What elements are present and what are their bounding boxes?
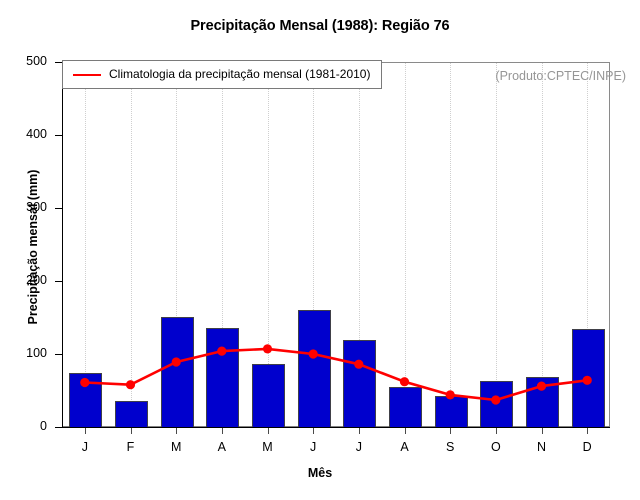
- x-tick-mark: [359, 427, 360, 434]
- gridline: [85, 63, 86, 426]
- bar: [161, 317, 194, 428]
- chart-figure: Precipitação Mensal (1988): Região 76 Pr…: [0, 0, 640, 500]
- x-tick-label: A: [385, 440, 425, 454]
- x-axis-line: [62, 427, 610, 428]
- x-axis-label: Mês: [0, 466, 640, 480]
- bar: [435, 396, 468, 428]
- x-tick-mark: [405, 427, 406, 434]
- y-tick-mark: [55, 281, 62, 282]
- y-tick-mark: [55, 354, 62, 355]
- y-tick-label: 300: [3, 200, 47, 214]
- x-tick-label: O: [476, 440, 516, 454]
- y-tick-mark: [55, 427, 62, 428]
- gridline: [542, 63, 543, 426]
- y-tick-mark: [55, 62, 62, 63]
- bar: [480, 381, 513, 428]
- y-tick-label: 400: [3, 127, 47, 141]
- gridline: [496, 63, 497, 426]
- plot-area: [62, 62, 610, 427]
- x-tick-label: J: [339, 440, 379, 454]
- x-tick-mark: [222, 427, 223, 434]
- x-tick-label: J: [293, 440, 333, 454]
- x-tick-label: J: [65, 440, 105, 454]
- x-tick-mark: [587, 427, 588, 434]
- x-tick-label: M: [248, 440, 288, 454]
- y-tick-label: 0: [3, 419, 47, 433]
- product-credit: (Produto:CPTEC/INPE): [495, 69, 626, 83]
- gridline: [405, 63, 406, 426]
- gridline: [131, 63, 132, 426]
- x-tick-mark: [176, 427, 177, 434]
- bar: [115, 401, 148, 428]
- bar: [572, 329, 605, 428]
- x-tick-label: F: [111, 440, 151, 454]
- gridline: [450, 63, 451, 426]
- bar: [526, 377, 559, 428]
- x-tick-mark: [85, 427, 86, 434]
- y-axis-line: [62, 62, 63, 428]
- y-tick-label: 200: [3, 273, 47, 287]
- y-tick-label: 500: [3, 54, 47, 68]
- y-tick-label: 100: [3, 346, 47, 360]
- bar: [69, 373, 102, 428]
- x-tick-label: S: [430, 440, 470, 454]
- bar: [252, 364, 285, 428]
- x-tick-mark: [450, 427, 451, 434]
- x-tick-label: A: [202, 440, 242, 454]
- y-tick-mark: [55, 208, 62, 209]
- x-tick-mark: [131, 427, 132, 434]
- y-tick-mark: [55, 135, 62, 136]
- x-tick-label: N: [522, 440, 562, 454]
- x-tick-label: D: [567, 440, 607, 454]
- legend-line-swatch: [73, 74, 101, 76]
- x-tick-mark: [268, 427, 269, 434]
- x-tick-mark: [496, 427, 497, 434]
- bar: [206, 328, 239, 428]
- bar: [298, 310, 331, 428]
- bar: [343, 340, 376, 428]
- y-axis-label: Precipitação mensal (mm): [26, 117, 40, 377]
- x-tick-mark: [542, 427, 543, 434]
- chart-title: Precipitação Mensal (1988): Região 76: [0, 18, 640, 34]
- x-tick-mark: [313, 427, 314, 434]
- bar: [389, 387, 422, 428]
- x-tick-label: M: [156, 440, 196, 454]
- legend-entry-label: Climatologia da precipitação mensal (198…: [109, 67, 370, 81]
- legend: Climatologia da precipitação mensal (198…: [62, 60, 382, 89]
